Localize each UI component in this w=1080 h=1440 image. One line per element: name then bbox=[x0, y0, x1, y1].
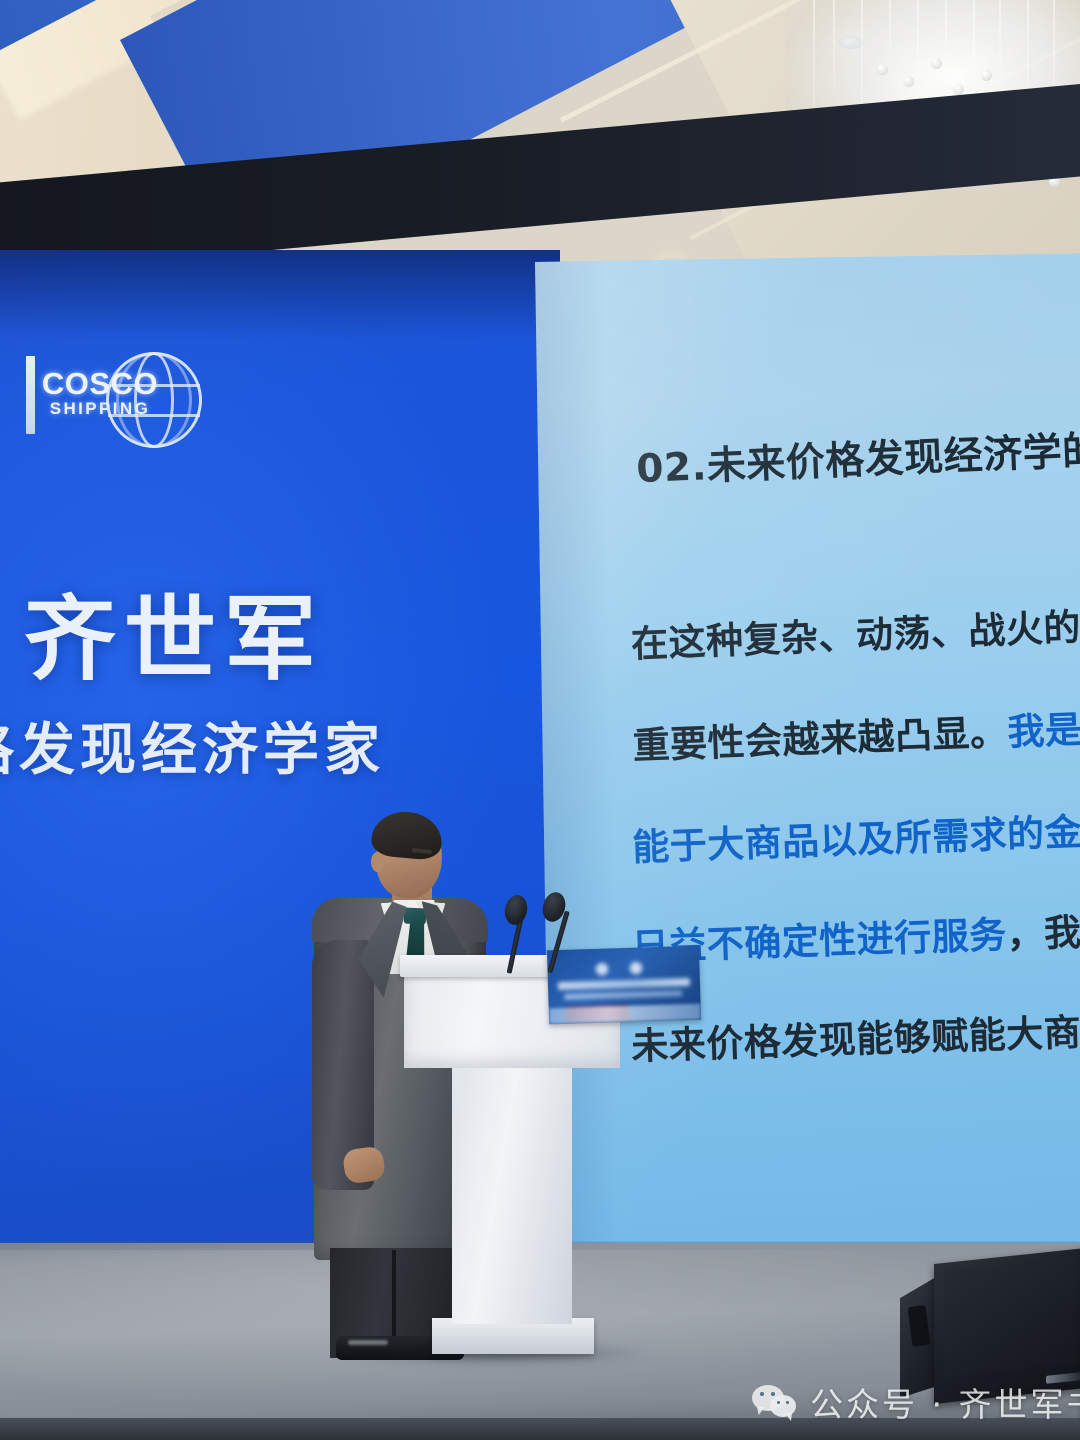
backdrop-top-shade bbox=[0, 250, 560, 340]
podium-column bbox=[452, 1066, 572, 1324]
banner-emblem-icon bbox=[629, 961, 642, 974]
speaker-tie-knot bbox=[404, 907, 427, 924]
watermark: 公众号 · 齐世军书 bbox=[752, 1378, 1080, 1426]
logo-subwordmark: SHIPPING bbox=[26, 399, 174, 419]
banner-subtitle-text bbox=[564, 990, 682, 1000]
screen-sheen bbox=[535, 253, 1080, 1262]
projection-screen: 02.未来价格发现经济学的 在这种复杂、动荡、战火的特 重要性会越来越凸显。我是… bbox=[535, 253, 1080, 1262]
speaker-name: 齐世军 bbox=[24, 565, 324, 698]
wechat-icon bbox=[752, 1385, 798, 1419]
monitor-grille bbox=[944, 1257, 1076, 1377]
watermark-text: 公众号 · 齐世军书 bbox=[810, 1378, 1080, 1426]
speaker-title: 格发现经济学家 bbox=[0, 705, 385, 786]
banner-title-text bbox=[558, 978, 690, 990]
conference-photo-scene: COSCO SHIPPING 齐世军 格发现经济学家 02.未来价格发现经济学的… bbox=[0, 0, 1080, 1440]
logo-wordmark: COSCO bbox=[26, 366, 174, 402]
speaker-ear bbox=[371, 852, 384, 872]
cosco-shipping-logo: COSCO SHIPPING bbox=[26, 350, 346, 455]
podium-event-banner bbox=[547, 946, 701, 1025]
banner-emblem-icon bbox=[595, 962, 608, 975]
